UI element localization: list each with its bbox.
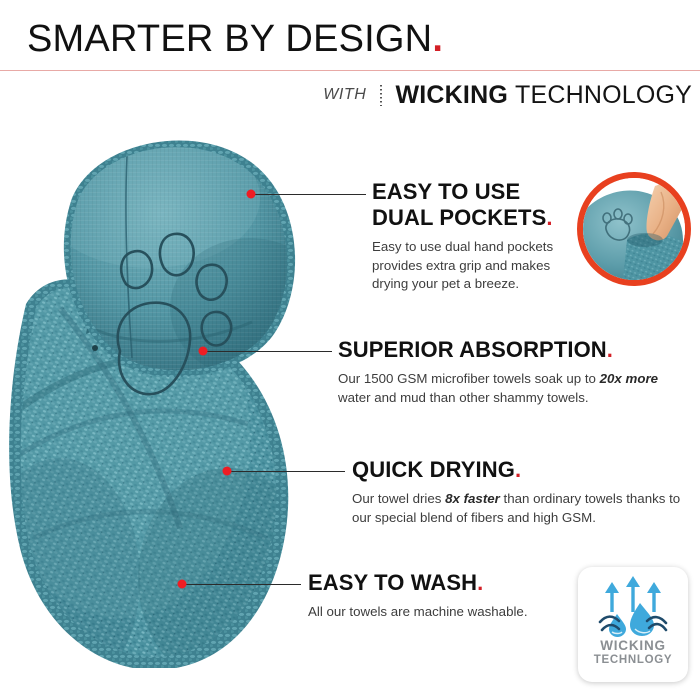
feature-heading-period: .: [515, 457, 521, 482]
feature-superior-absorption: SUPERIOR ABSORPTION. Our 1500 GSM microf…: [338, 337, 690, 407]
badge-line-1: WICKING: [600, 638, 666, 653]
feature-heading-period: .: [546, 205, 552, 230]
feature-heading-period: .: [477, 570, 483, 595]
leader-line-1: [251, 194, 366, 195]
feature-quick-drying-body: Our towel dries 8x faster than ordinary …: [352, 490, 694, 527]
badge-line-2: TECHNLOGY: [594, 653, 673, 667]
feature-heading-text: SUPERIOR ABSORPTION: [338, 337, 607, 362]
marker-dot-2: [199, 347, 208, 356]
feature-dual-pockets-body: Easy to use dual hand pockets provides e…: [372, 238, 584, 294]
body-pre: Our towel dries: [352, 491, 445, 506]
feature-heading-text: EASY TO WASH: [308, 570, 477, 595]
subheader: WITH WICKING TECHNOLOGY: [323, 80, 692, 110]
marker-dot-4: [178, 580, 187, 589]
feature-dual-pockets: EASY TO USE DUAL POCKETS. Easy to use du…: [372, 179, 584, 294]
body-post: water and mud than other shammy towels.: [338, 390, 589, 405]
dotted-separator: [380, 84, 382, 106]
leader-line-2: [203, 351, 332, 352]
wicking-technology-badge: WICKING TECHNLOGY: [578, 567, 688, 682]
leader-line-3: [227, 471, 345, 472]
infographic-page: SMARTER BY DESIGN. WITH WICKING TECHNOLO…: [0, 0, 700, 700]
feature-heading-period: .: [607, 337, 613, 362]
feature-heading-line2: DUAL POCKETS: [372, 205, 546, 230]
feature-heading-text: QUICK DRYING: [352, 457, 515, 482]
leader-line-4: [182, 584, 301, 585]
wicking-arrows-droplets-icon: [594, 576, 672, 638]
page-title: SMARTER BY DESIGN.: [27, 17, 443, 61]
body-emphasis: 8x faster: [445, 491, 500, 506]
hand-in-pocket-photo: [583, 178, 685, 280]
subheader-with-label: WITH: [323, 86, 366, 104]
marker-dot-3: [223, 467, 232, 476]
towel-tag-dot: [92, 345, 98, 351]
header-divider: [0, 70, 700, 71]
feature-quick-drying: QUICK DRYING. Our towel dries 8x faster …: [352, 457, 694, 527]
body-pre: Our 1500 GSM microfiber towels soak up t…: [338, 371, 600, 386]
brand-wicking-label: WICKING: [395, 81, 508, 110]
brand-technology-label: TECHNOLOGY: [515, 81, 692, 110]
feature-easy-to-wash-body: All our towels are machine washable.: [308, 603, 578, 622]
page-title-text: SMARTER BY DESIGN: [27, 18, 432, 60]
feature-quick-drying-heading: QUICK DRYING.: [352, 457, 694, 483]
marker-dot-1: [247, 190, 256, 199]
page-title-period: .: [432, 18, 443, 60]
feature-heading-line1: EASY TO USE: [372, 179, 520, 204]
feature-easy-to-wash-heading: EASY TO WASH.: [308, 570, 578, 596]
hand-in-pocket-inset: [577, 172, 691, 286]
feature-superior-absorption-body: Our 1500 GSM microfiber towels soak up t…: [338, 370, 690, 407]
feature-superior-absorption-heading: SUPERIOR ABSORPTION.: [338, 337, 690, 363]
feature-dual-pockets-heading: EASY TO USE DUAL POCKETS.: [372, 179, 584, 231]
feature-easy-to-wash: EASY TO WASH. All our towels are machine…: [308, 570, 578, 622]
body-emphasis: 20x more: [600, 371, 658, 386]
